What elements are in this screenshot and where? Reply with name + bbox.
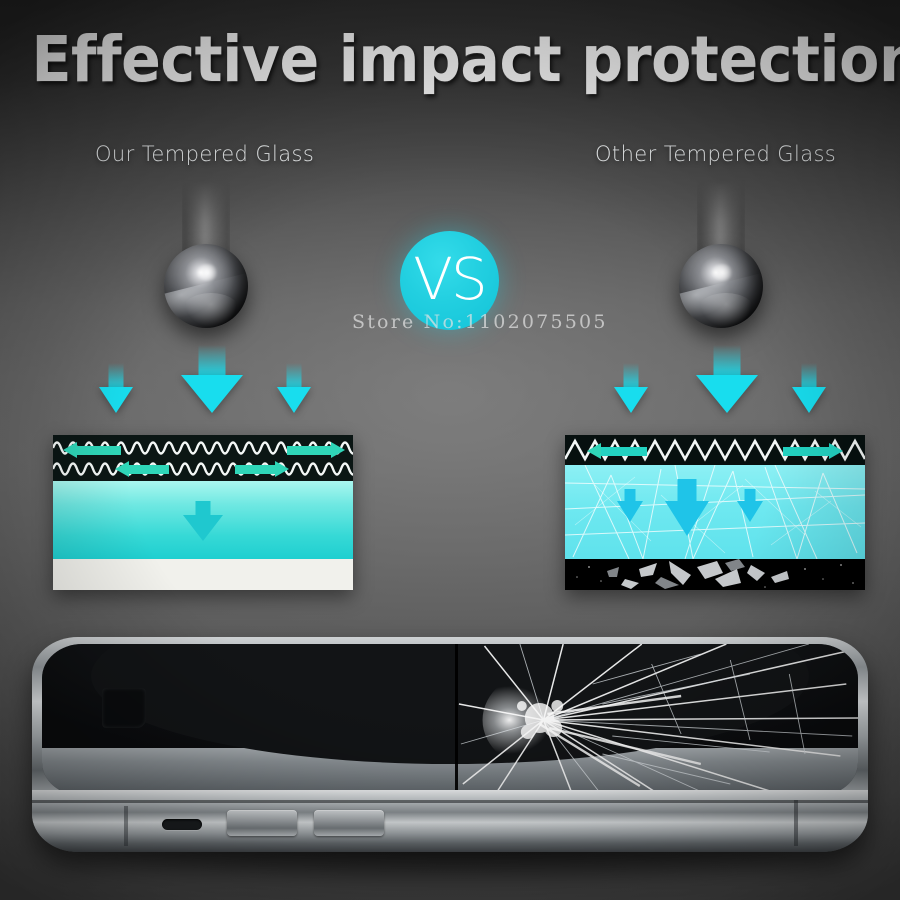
label-other-tempered-glass: Other Tempered Glass <box>595 142 836 166</box>
ball-highlight <box>711 264 733 281</box>
absorption-wave-band <box>53 435 353 481</box>
cracked-cyan-layer <box>565 465 865 559</box>
steel-ball-impactor-left <box>140 180 270 320</box>
volume-button[interactable] <box>227 810 297 836</box>
phone-body <box>32 637 868 852</box>
edge-seam-left <box>124 806 128 846</box>
page-title: Effective impact protection <box>32 28 869 91</box>
sine-wave-icon <box>53 457 353 480</box>
down-arrow-icon <box>183 501 223 543</box>
down-arrow-icon <box>99 363 133 415</box>
dispersion-arrow-left <box>115 461 169 477</box>
steel-ball-icon <box>164 244 248 328</box>
impact-arrows-right <box>600 345 855 415</box>
label-our-tempered-glass: Our Tempered Glass <box>95 142 314 166</box>
wave-row <box>53 457 353 480</box>
down-arrow-icon <box>181 345 243 415</box>
dispersion-arrow-right <box>235 461 289 477</box>
antenna-seam <box>32 800 868 803</box>
dispersion-arrow-left <box>587 443 647 459</box>
edge-seam-right <box>794 800 798 846</box>
shattered-screen-layer <box>565 559 865 590</box>
phone-side-edge <box>32 790 868 852</box>
down-arrow-icon <box>696 345 758 415</box>
store-number-watermark: Store No:1102075505 <box>352 311 608 333</box>
steel-ball-icon <box>679 244 763 328</box>
down-arrow-icon <box>792 363 826 415</box>
phone-screen <box>42 644 858 796</box>
front-camera-notch <box>102 688 146 728</box>
down-arrow-icon <box>614 363 648 415</box>
speaker-grille <box>162 819 202 830</box>
dispersion-arrow-left <box>63 442 121 458</box>
glass-shards-icon <box>565 559 865 590</box>
device-screen-layer <box>53 559 353 590</box>
power-button[interactable] <box>314 810 384 836</box>
dispersion-arrow-right <box>287 442 345 458</box>
cross-section-our-glass <box>53 435 353 590</box>
cross-section-other-glass <box>565 435 865 590</box>
dispersion-arrow-right <box>783 443 843 459</box>
crack-lines-icon <box>565 465 865 559</box>
steel-ball-impactor-right <box>655 180 785 320</box>
phone-crack-icon <box>455 644 858 796</box>
down-arrow-icon <box>665 479 709 537</box>
down-arrow-icon <box>737 489 763 523</box>
down-arrow-icon <box>277 363 311 415</box>
impact-arrows-left <box>85 345 340 415</box>
promo-image-canvas: Effective impact protection Our Tempered… <box>0 0 900 900</box>
smartphone-comparison <box>0 625 900 900</box>
shattered-half <box>455 644 858 796</box>
weak-zigzag-band <box>565 435 865 465</box>
vs-label: VS <box>413 250 486 308</box>
down-arrow-icon <box>617 489 643 523</box>
ball-highlight <box>196 264 218 281</box>
